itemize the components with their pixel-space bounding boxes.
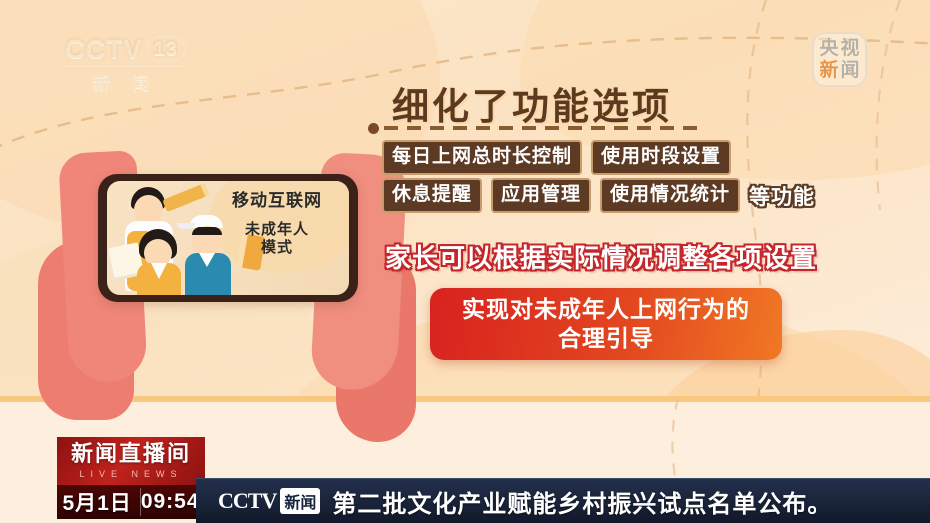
feature-tag[interactable]: 应用管理 bbox=[491, 178, 591, 213]
program-name-en: LIVE NEWS bbox=[57, 469, 205, 480]
feature-tag[interactable]: 使用情况统计 bbox=[600, 178, 740, 213]
datetime-separator bbox=[140, 488, 141, 516]
title-dashed-line bbox=[384, 126, 704, 130]
highlight-line-1: 实现对未成年人上网行为的 bbox=[462, 295, 750, 324]
feature-tag-suffix: 等功能 bbox=[749, 181, 815, 211]
badge-char-wen: 闻 bbox=[841, 60, 860, 82]
phone-text-line2: 未成年人 bbox=[214, 221, 340, 239]
title-bullet-dot bbox=[368, 123, 379, 134]
telescope-icon bbox=[162, 183, 210, 212]
title-underline bbox=[368, 122, 704, 134]
phone-screen-text: 移动互联网 未成年人 模式 bbox=[214, 191, 340, 257]
feature-tag[interactable]: 每日上网总时长控制 bbox=[382, 140, 582, 175]
phone-text-line1: 移动互联网 bbox=[214, 191, 340, 212]
smartphone-device: 移动互联网 未成年人 模式 bbox=[98, 174, 358, 302]
channel-logo-cctv13: CCTV13 新 闻 bbox=[58, 34, 193, 96]
subtitle-line: 家长可以根据实际情况调整各项设置 bbox=[385, 238, 817, 275]
feature-tag-row-2: 休息提醒 应用管理 使用情况统计 等功能 bbox=[382, 178, 815, 213]
broadcast-time: 09:54 bbox=[141, 490, 200, 514]
broadcast-date: 5月1日 bbox=[62, 487, 131, 517]
program-name-cn: 新闻直播间 bbox=[57, 439, 205, 469]
ticker-headline: 第二批文化产业赋能乡村振兴试点名单公布。 bbox=[332, 484, 832, 519]
feature-tag[interactable]: 休息提醒 bbox=[382, 178, 482, 213]
channel-number: 13 bbox=[146, 36, 186, 62]
badge-char-xin: 新 bbox=[819, 60, 838, 82]
badge-char-shi: 视 bbox=[841, 38, 860, 60]
channel-logo-text: CCTV bbox=[65, 34, 143, 64]
feature-tag[interactable]: 使用时段设置 bbox=[591, 140, 731, 175]
broadcast-frame: CCTV13 新 闻 央 视 新 闻 bbox=[0, 0, 930, 523]
program-logo: 新闻直播间 LIVE NEWS bbox=[57, 437, 205, 485]
ticker-logo-cctv: CCTV bbox=[218, 488, 276, 514]
highlight-line-2: 合理引导 bbox=[558, 324, 654, 353]
phone-text-line3: 模式 bbox=[214, 239, 340, 257]
phone-screen: 移动互联网 未成年人 模式 bbox=[107, 181, 349, 295]
cctv-news-badge: 央 视 新 闻 bbox=[812, 32, 867, 87]
ticker-logo-news: 新闻 bbox=[280, 488, 320, 514]
channel-logo-rule bbox=[64, 65, 187, 67]
highlight-callout-box: 实现对未成年人上网行为的 合理引导 bbox=[430, 288, 782, 360]
date-time-display: 5月1日 09:54 bbox=[57, 485, 205, 519]
feature-tag-row-1: 每日上网总时长控制 使用时段设置 bbox=[382, 140, 731, 175]
channel-sub-label: 新 闻 bbox=[58, 69, 193, 94]
badge-char-yang: 央 bbox=[819, 38, 838, 60]
news-ticker-bar: CCTV 新闻 第二批文化产业赋能乡村振兴试点名单公布。 bbox=[196, 478, 930, 523]
ticker-cctv-news-logo: CCTV 新闻 bbox=[218, 488, 320, 514]
phone-illustration: 移动互联网 未成年人 模式 bbox=[64, 160, 384, 320]
